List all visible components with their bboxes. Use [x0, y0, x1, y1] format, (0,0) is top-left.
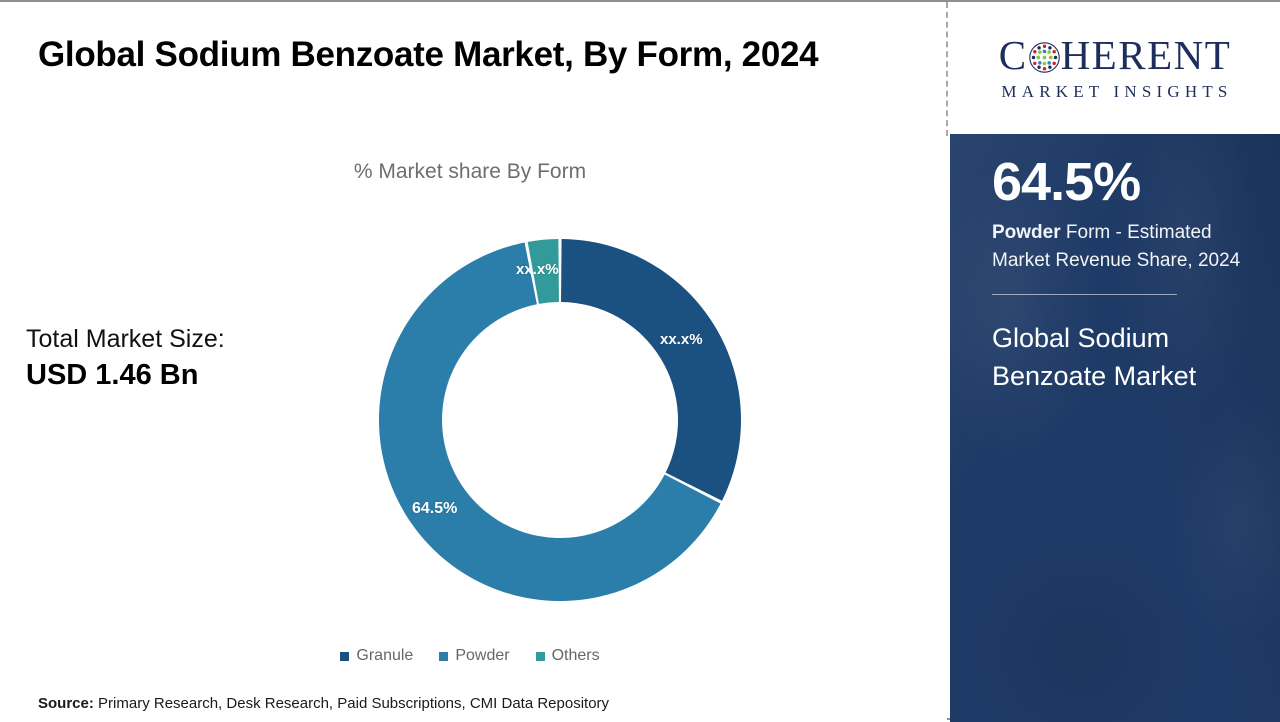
highlight-panel: 64.5% Powder Form - Estimated Market Rev… [950, 134, 1280, 722]
total-market-size-label: Total Market Size: [26, 324, 326, 355]
total-market-size-block: Total Market Size: USD 1.46 Bn [26, 324, 326, 395]
panel-divider [992, 294, 1177, 295]
chart-subtitle: % Market share By Form [0, 160, 940, 184]
slice-label-powder: 64.5% [412, 500, 457, 518]
donut-chart: xx.x% 64.5% xx.x% [374, 234, 746, 606]
legend-swatch-others [536, 652, 545, 661]
total-market-size-value: USD 1.46 Bn [26, 357, 326, 395]
panel-market-name: Global Sodium Benzoate Market [992, 319, 1250, 396]
highlight-content: 64.5% Powder Form - Estimated Market Rev… [950, 134, 1280, 395]
legend-item-granule: Granule [340, 647, 413, 665]
donut-slice-group [379, 239, 741, 601]
logo-area: C [950, 2, 1280, 134]
slice-label-others: xx.x% [516, 261, 559, 278]
legend-swatch-powder [439, 652, 448, 661]
source-line: Source: Primary Research, Desk Research,… [38, 695, 609, 712]
legend-label-granule: Granule [356, 647, 413, 665]
brand-panel: C [950, 2, 1280, 722]
globe-icon [1029, 42, 1060, 73]
highlight-description: Powder Form - Estimated Market Revenue S… [992, 219, 1250, 276]
brand-logo: C [999, 35, 1232, 76]
source-text: Primary Research, Desk Research, Paid Su… [94, 695, 609, 712]
page-title: Global Sodium Benzoate Market, By Form, … [38, 34, 908, 76]
legend-item-others: Others [536, 647, 600, 665]
donut-chart-svg [374, 234, 746, 606]
brand-name-part1: C [999, 35, 1028, 76]
highlight-description-bold: Powder [992, 222, 1061, 243]
slice-label-granule: xx.x% [660, 331, 703, 348]
infographic-page: Global Sodium Benzoate Market, By Form, … [0, 0, 1280, 720]
highlight-stat: 64.5% [992, 154, 1250, 211]
chart-legend: GranulePowderOthers [0, 647, 940, 665]
legend-label-others: Others [552, 647, 600, 665]
source-label: Source: [38, 695, 94, 712]
chart-panel: Global Sodium Benzoate Market, By Form, … [0, 2, 947, 722]
donut-slice-granule [561, 239, 741, 501]
legend-item-powder: Powder [439, 647, 509, 665]
dashed-divider [946, 2, 948, 136]
legend-label-powder: Powder [455, 647, 509, 665]
brand-name-part2: HERENT [1061, 35, 1232, 76]
brand-tagline: MARKET INSIGHTS [997, 82, 1232, 102]
legend-swatch-granule [340, 652, 349, 661]
